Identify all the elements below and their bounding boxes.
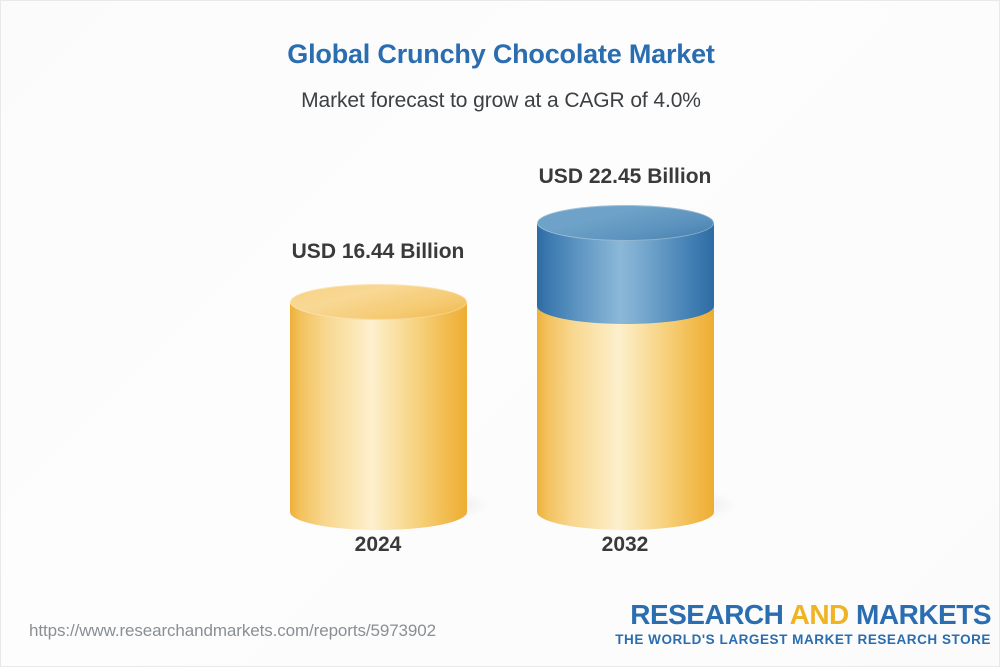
chart-canvas: Global Crunchy Chocolate Market Market f… xyxy=(0,0,1000,667)
bar-body-2024 xyxy=(290,302,467,512)
logo-tagline: THE WORLD'S LARGEST MARKET RESEARCH STOR… xyxy=(615,632,991,648)
bar-top-cap-2032 xyxy=(537,205,714,241)
source-url[interactable]: https://www.researchandmarkets.com/repor… xyxy=(29,621,436,641)
plot-area: USD 16.44 Billion 2024 USD 22.45 Billion xyxy=(1,1,1000,601)
bar-value-label-2024: USD 16.44 Billion xyxy=(228,240,528,264)
research-and-markets-logo[interactable]: RESEARCH AND MARKETS THE WORLD'S LARGEST… xyxy=(615,600,991,648)
logo-word-and: AND xyxy=(790,599,856,630)
logo-word-research: RESEARCH xyxy=(630,599,789,630)
bar-body-base-2032 xyxy=(537,306,714,512)
bar-value-label-2032: USD 22.45 Billion xyxy=(475,165,775,189)
bar-top-cap-2024 xyxy=(290,284,467,320)
logo-word-markets: MARKETS xyxy=(856,599,991,630)
bar-category-label-2032: 2032 xyxy=(475,533,775,557)
logo-wordmark: RESEARCH AND MARKETS xyxy=(615,600,991,629)
